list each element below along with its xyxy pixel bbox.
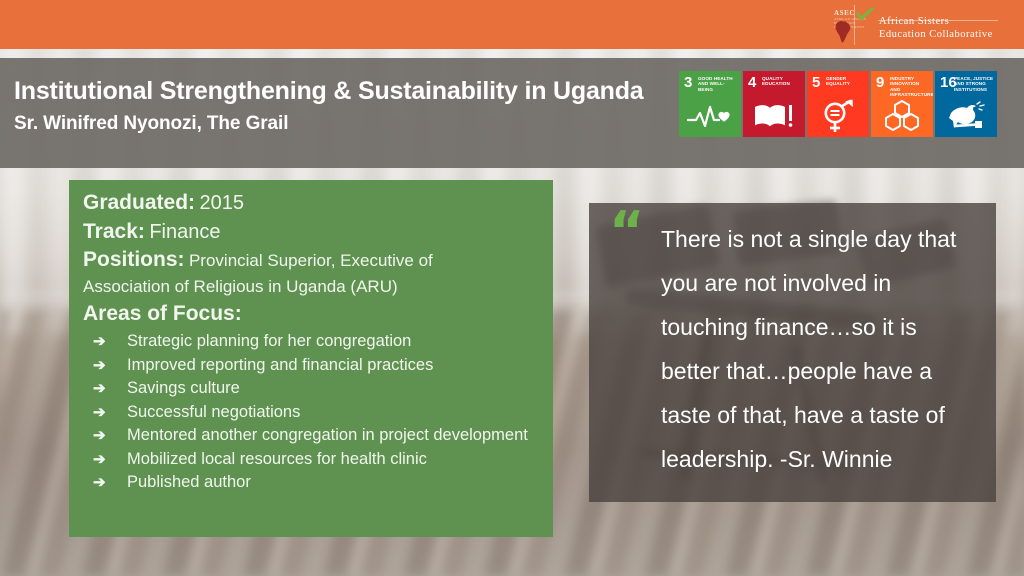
positions-label: Positions: <box>83 248 185 271</box>
logo-line-1: African Sisters <box>879 16 993 28</box>
list-item-label: Strategic planning for her congregation <box>127 330 539 354</box>
list-item-label: Improved reporting and financial practic… <box>127 354 539 378</box>
sdg-label: Industry Innovation and Infrastructure <box>890 76 930 98</box>
areas-of-focus-list: ➔ Strategic planning for her congregatio… <box>83 330 539 495</box>
list-item: ➔ Mobilized local resources for health c… <box>83 448 539 472</box>
sdg-icon-3: 3 Good Health and Well-being <box>679 71 741 137</box>
positions-line: Positions: Provincial Superior, Executiv… <box>83 248 539 274</box>
list-item-label: Published author <box>127 471 539 495</box>
slide-canvas: ASEC AFRICAN SISTERS EDUCATION COLLABORA… <box>0 0 1024 576</box>
gender-equality-icon <box>807 99 869 133</box>
list-item-label: Mobilized local resources for health cli… <box>127 448 539 472</box>
track-line: Track: Finance <box>83 219 539 247</box>
dove-gavel-icon <box>935 99 997 133</box>
logo-line-2: Education Collaborative <box>879 29 993 41</box>
list-item-label: Mentored another congregation in project… <box>127 424 539 448</box>
sdg-icon-9: 9 Industry Innovation and Infrastructure <box>871 71 933 137</box>
sdg-number: 9 <box>876 75 884 90</box>
sdg-icon-5: 5 Gender Equality <box>807 71 869 137</box>
list-item-label: Successful negotiations <box>127 401 539 425</box>
arrow-bullet-icon: ➔ <box>83 354 127 378</box>
graduated-value: 2015 <box>199 192 244 214</box>
sdg-number: 4 <box>748 75 756 90</box>
quote-card: “ There is not a single day that you are… <box>589 203 996 502</box>
graduated-label: Graduated: <box>83 191 195 214</box>
sdg-icon-16: 16 Peace, Justice and Strong Institution… <box>935 71 997 137</box>
track-label: Track: <box>83 220 145 243</box>
arrow-bullet-icon: ➔ <box>83 401 127 425</box>
list-item: ➔ Published author <box>83 471 539 495</box>
list-item: ➔ Savings culture <box>83 377 539 401</box>
asec-logo: ASEC AFRICAN SISTERS EDUCATION COLLABORA… <box>832 2 1002 46</box>
positions-value-continued: Association of Religious in Uganda (ARU) <box>83 275 539 298</box>
page-title: Institutional Strengthening & Sustainabi… <box>14 76 674 106</box>
sdg-number: 3 <box>684 75 692 90</box>
positions-value: Provincial Superior, Executive of <box>189 251 433 270</box>
title-block: Institutional Strengthening & Sustainabi… <box>14 76 674 135</box>
page-subtitle: Sr. Winifred Nyonozi, The Grail <box>14 113 674 135</box>
sdg-number: 5 <box>812 75 820 90</box>
list-item: ➔ Strategic planning for her congregatio… <box>83 330 539 354</box>
quote-text: There is not a single day that you are n… <box>611 217 974 481</box>
sdg-label: Gender Equality <box>826 76 866 87</box>
cubes-icon <box>871 99 933 133</box>
open-book-icon <box>743 99 805 133</box>
arrow-bullet-icon: ➔ <box>83 471 127 495</box>
list-item: ➔ Improved reporting and financial pract… <box>83 354 539 378</box>
list-item-label: Savings culture <box>127 377 539 401</box>
graduated-line: Graduated: 2015 <box>83 190 539 218</box>
list-item: ➔ Mentored another congregation in proje… <box>83 424 539 448</box>
quotation-mark-icon: “ <box>609 213 643 251</box>
sdg-label: Peace, Justice and Strong Institutions <box>954 76 994 92</box>
areas-of-focus-label: Areas of Focus: <box>83 300 539 327</box>
heartbeat-icon <box>679 99 741 133</box>
logo-wordmark: African Sisters Education Collaborative <box>879 7 993 41</box>
logo-asec-text: ASEC <box>834 9 855 17</box>
arrow-bullet-icon: ➔ <box>83 424 127 448</box>
logo-rule <box>878 20 998 21</box>
track-value: Finance <box>149 221 220 243</box>
sdg-icon-strip: 3 Good Health and Well-being 4 Quality E… <box>679 71 997 137</box>
sdg-icon-4: 4 Quality Education <box>743 71 805 137</box>
profile-card: Graduated: 2015 Track: Finance Positions… <box>69 180 553 537</box>
top-orange-band: ASEC AFRICAN SISTERS EDUCATION COLLABORA… <box>0 0 1024 49</box>
sdg-label: Quality Education <box>762 76 802 87</box>
arrow-bullet-icon: ➔ <box>83 448 127 472</box>
logo-divider <box>854 5 855 45</box>
list-item: ➔ Successful negotiations <box>83 401 539 425</box>
arrow-bullet-icon: ➔ <box>83 377 127 401</box>
logo-mark: ASEC AFRICAN SISTERS EDUCATION COLLABORA… <box>832 3 874 45</box>
sdg-label: Good Health and Well-being <box>698 76 738 92</box>
arrow-bullet-icon: ➔ <box>83 330 127 354</box>
